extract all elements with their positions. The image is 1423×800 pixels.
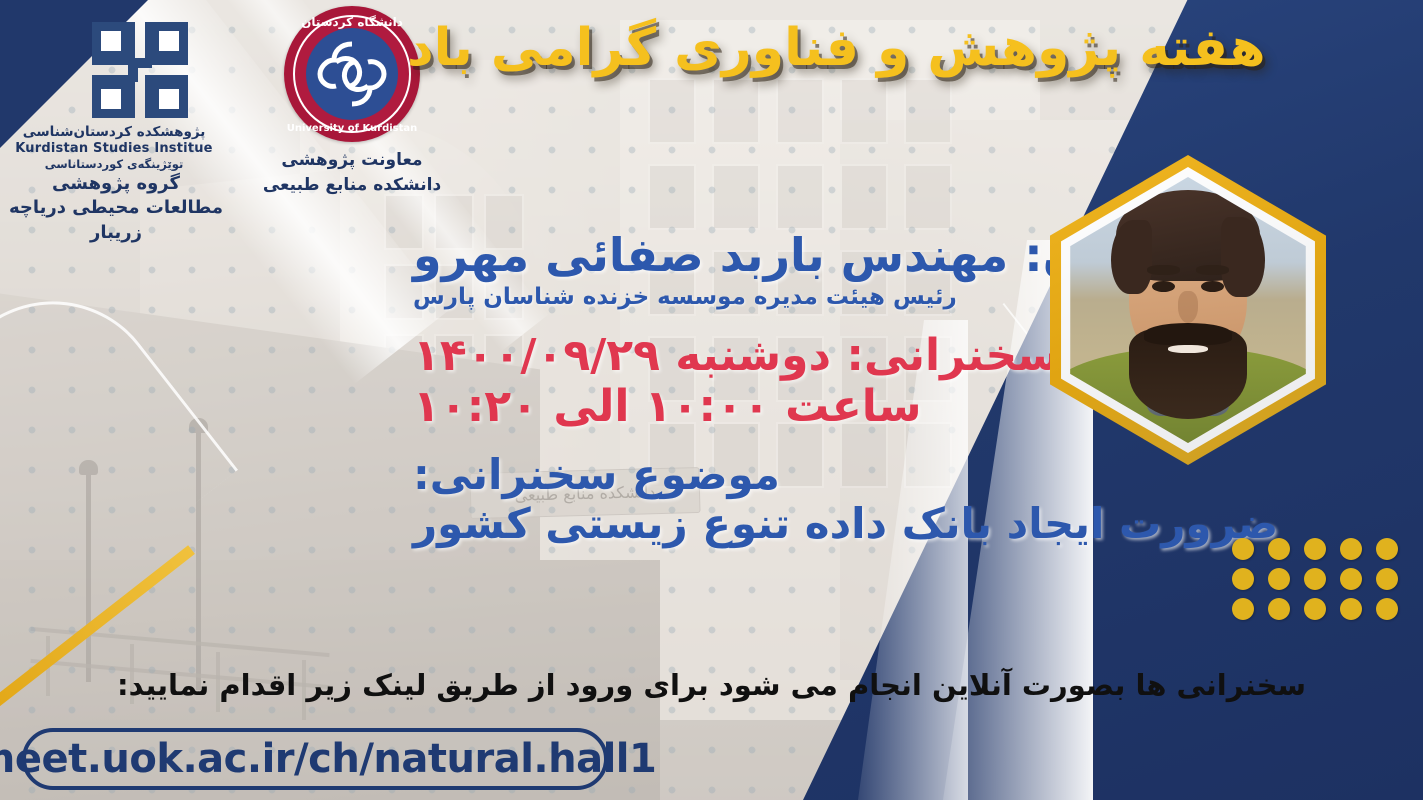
institute-name-ku: توێژینگەی کوردستاناسی: [0, 157, 228, 171]
main-title: هفته پژوهش و فناوری گرامی باد: [387, 18, 1387, 78]
research-group-line2: مطالعات محیطی دریاچه زریبار: [0, 196, 232, 245]
institute-name-fa: پژوهشکده کردستان‌شناسی: [0, 124, 228, 141]
research-group-block: گروه پژوهشی مطالعات محیطی دریاچه زریبار: [0, 172, 232, 245]
faculty-sub-line2: دانشکده منابع طبیعی: [252, 173, 452, 198]
gold-dot: [1268, 598, 1290, 620]
gold-dot: [1376, 568, 1398, 590]
gold-dot: [1304, 598, 1326, 620]
institute-name-block: پژوهشکده کردستان‌شناسی Kurdistan Studies…: [0, 124, 228, 172]
gold-dot: [1232, 538, 1254, 560]
research-group-line1: گروه پژوهشی: [0, 172, 232, 196]
gold-dot: [1376, 598, 1398, 620]
speaker-photo-frame: [1038, 155, 1338, 465]
faculty-sub-line1: معاونت پژوهشی: [252, 148, 452, 173]
gold-dot: [1376, 538, 1398, 560]
topic-text: ضرورت ایجاد بانک داده تنوع زیستی کشور: [413, 500, 1353, 548]
kurdistan-studies-institute-logo-icon: [92, 22, 188, 118]
gold-dot: [1340, 538, 1362, 560]
meeting-link[interactable]: meet.uok.ac.ir/ch/natural.hall1: [22, 728, 608, 790]
gold-dot: [1268, 538, 1290, 560]
seal-text-en: University of Kurdistan: [284, 123, 420, 134]
online-notice: سخنرانی ها بصورت آنلاین انجام می شود برا…: [0, 668, 1423, 724]
gold-dot: [1304, 568, 1326, 590]
gold-dot-grid: [1218, 538, 1398, 628]
poster-canvas: دانشکده منابع طبیعی پژوهشکده کردستان‌شنا…: [0, 0, 1423, 800]
gold-dot: [1340, 568, 1362, 590]
topic-block: موضوع سخنرانی: ضرورت ایجاد بانک داده تنو…: [413, 451, 1353, 548]
gold-dot: [1304, 538, 1326, 560]
gold-dot: [1340, 598, 1362, 620]
gold-dot: [1268, 568, 1290, 590]
gold-dot: [1232, 598, 1254, 620]
institute-name-en: Kurdistan Studies Institue: [0, 141, 228, 157]
gold-dot: [1232, 568, 1254, 590]
faculty-sub-block: معاونت پژوهشی دانشکده منابع طبیعی: [252, 148, 452, 197]
